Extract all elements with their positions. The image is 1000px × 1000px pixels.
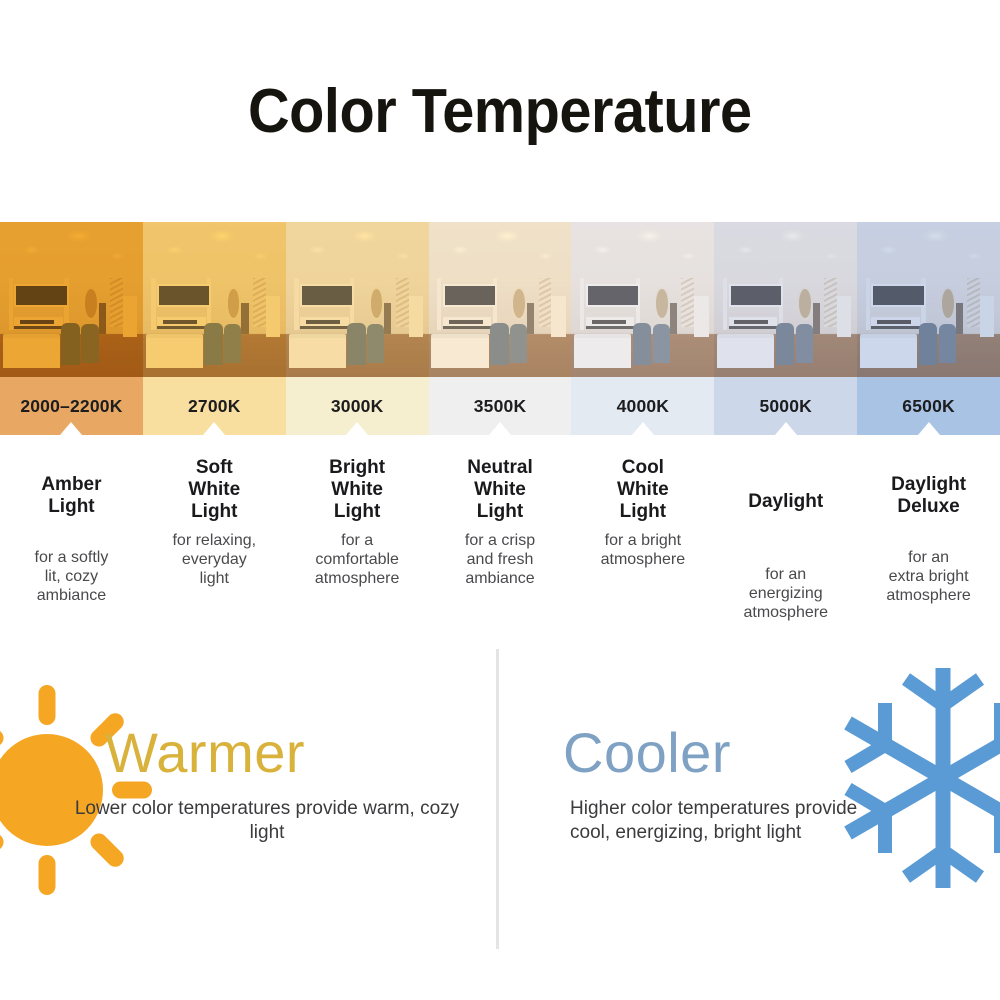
- snowflake-icon: [838, 663, 1000, 893]
- sun-icon: [0, 685, 152, 895]
- light-description-text: for a softlylit, cozyambiance: [6, 548, 137, 606]
- light-description-line: ambiance: [435, 569, 566, 588]
- swatch-pointer-notch: [346, 422, 368, 435]
- swatch-pointer-notch: [203, 422, 225, 435]
- light-name-line: Light: [617, 501, 669, 523]
- room-photo-6500k: [857, 222, 1000, 377]
- title-area: Color Temperature: [0, 0, 1000, 222]
- light-name-line: White: [188, 479, 240, 501]
- room-photo-strip: [0, 222, 1000, 377]
- swatch-pointer-notch: [60, 422, 82, 435]
- light-name-line: Deluxe: [891, 496, 966, 518]
- swatch-pointer-notch: [918, 422, 940, 435]
- room-photo-3000k: [286, 222, 429, 377]
- light-name-line: Bright: [329, 457, 385, 479]
- kelvin-swatch-bar: 2000–2200K2700K3000K3500K4000K5000K6500K: [0, 377, 1000, 435]
- light-description: SoftWhiteLightfor relaxing,everydaylight: [143, 457, 286, 623]
- light-description-text: for anextra brightatmosphere: [863, 548, 994, 606]
- cooler-heading: Cooler: [563, 720, 731, 785]
- swatch-pointer-notch: [489, 422, 511, 435]
- kelvin-swatch[interactable]: 5000K: [714, 377, 857, 435]
- light-description-line: for a: [292, 531, 423, 550]
- kelvin-swatch[interactable]: 4000K: [571, 377, 714, 435]
- kelvin-swatch[interactable]: 3500K: [429, 377, 572, 435]
- kelvin-swatch[interactable]: 6500K: [857, 377, 1000, 435]
- kelvin-swatch[interactable]: 2000–2200K: [0, 377, 143, 435]
- room-photo-5000k: [714, 222, 857, 377]
- color-temperature-lift: [714, 222, 857, 377]
- light-description-line: atmosphere: [577, 550, 708, 569]
- warmer-heading: Warmer: [105, 720, 305, 785]
- kelvin-swatch[interactable]: 3000K: [286, 377, 429, 435]
- light-name-line: Amber: [41, 474, 101, 496]
- light-description: NeutralWhiteLightfor a crispand freshamb…: [429, 457, 572, 623]
- color-temperature-lift: [0, 222, 143, 377]
- kelvin-label: 5000K: [759, 396, 812, 417]
- light-name-line: White: [467, 479, 532, 501]
- color-temperature-lift: [857, 222, 1000, 377]
- light-description-line: lit, cozy: [6, 567, 137, 586]
- light-name: AmberLight: [6, 457, 137, 544]
- light-description-line: comfortable: [292, 550, 423, 569]
- light-description-text: for a crispand freshambiance: [435, 531, 566, 589]
- swatch-pointer-notch: [775, 422, 797, 435]
- warmer-panel: Warmer Lower color temperatures provide …: [0, 645, 500, 1000]
- light-description-line: for a softly: [6, 548, 137, 567]
- light-name-line: Cool: [617, 457, 669, 479]
- light-description: AmberLightfor a softlylit, cozyambiance: [0, 457, 143, 623]
- light-description: CoolWhiteLightfor a brightatmosphere: [571, 457, 714, 623]
- kelvin-label: 2700K: [188, 396, 241, 417]
- light-description-text: for anenergizingatmosphere: [720, 565, 851, 623]
- kelvin-label: 3000K: [331, 396, 384, 417]
- room-photo-4000k: [571, 222, 714, 377]
- light-name-line: Soft: [188, 457, 240, 479]
- page-title: Color Temperature: [248, 76, 752, 147]
- light-description-line: and fresh: [435, 550, 566, 569]
- light-name-line: Light: [41, 496, 101, 518]
- light-name-line: Daylight: [891, 474, 966, 496]
- kelvin-label: 3500K: [474, 396, 527, 417]
- light-description-line: atmosphere: [292, 569, 423, 588]
- warmer-blurb: Lower color temperatures provide warm, c…: [67, 797, 467, 846]
- light-description-line: for an: [863, 548, 994, 567]
- light-description-line: everyday: [149, 550, 280, 569]
- kelvin-label: 4000K: [617, 396, 670, 417]
- light-name: DaylightDeluxe: [863, 457, 994, 544]
- color-temperature-lift: [143, 222, 286, 377]
- light-description-line: atmosphere: [720, 603, 851, 622]
- swatch-pointer-notch: [632, 422, 654, 435]
- light-name-line: Light: [188, 501, 240, 523]
- light-name: BrightWhiteLight: [292, 457, 423, 527]
- light-description-line: light: [149, 569, 280, 588]
- light-name: Daylight: [720, 457, 851, 561]
- light-description: Daylightfor anenergizingatmosphere: [714, 457, 857, 623]
- light-name: SoftWhiteLight: [149, 457, 280, 527]
- light-name: NeutralWhiteLight: [435, 457, 566, 527]
- light-description-line: for a crisp: [435, 531, 566, 550]
- light-name-line: Neutral: [467, 457, 532, 479]
- light-name-line: Light: [329, 501, 385, 523]
- cooler-panel: Cooler Higher color temperatures provide…: [500, 645, 1000, 1000]
- light-description-text: for relaxing,everydaylight: [149, 531, 280, 589]
- light-description-line: extra bright: [863, 567, 994, 586]
- light-name-line: White: [329, 479, 385, 501]
- color-temperature-lift: [429, 222, 572, 377]
- light-description-line: energizing: [720, 584, 851, 603]
- color-temperature-lift: [286, 222, 429, 377]
- light-description-line: for relaxing,: [149, 531, 280, 550]
- warm-cool-section: Warmer Lower color temperatures provide …: [0, 645, 1000, 1000]
- light-name-line: White: [617, 479, 669, 501]
- kelvin-label: 2000–2200K: [20, 396, 122, 417]
- light-description: DaylightDeluxefor anextra brightatmosphe…: [857, 457, 1000, 623]
- light-name: CoolWhiteLight: [577, 457, 708, 527]
- room-photo-3500k: [429, 222, 572, 377]
- color-temperature-lift: [571, 222, 714, 377]
- room-photo-2000-2200k: [0, 222, 143, 377]
- light-name-line: Daylight: [748, 491, 823, 513]
- light-description-line: for an: [720, 565, 851, 584]
- light-description-row: AmberLightfor a softlylit, cozyambianceS…: [0, 435, 1000, 623]
- room-photo-2700k: [143, 222, 286, 377]
- kelvin-label: 6500K: [902, 396, 955, 417]
- light-description: BrightWhiteLightfor acomfortableatmosphe…: [286, 457, 429, 623]
- light-description-line: for a bright: [577, 531, 708, 550]
- light-description-line: atmosphere: [863, 586, 994, 605]
- light-description-text: for acomfortableatmosphere: [292, 531, 423, 589]
- light-description-text: for a brightatmosphere: [577, 531, 708, 569]
- light-name-line: Light: [467, 501, 532, 523]
- light-description-line: ambiance: [6, 586, 137, 605]
- kelvin-swatch[interactable]: 2700K: [143, 377, 286, 435]
